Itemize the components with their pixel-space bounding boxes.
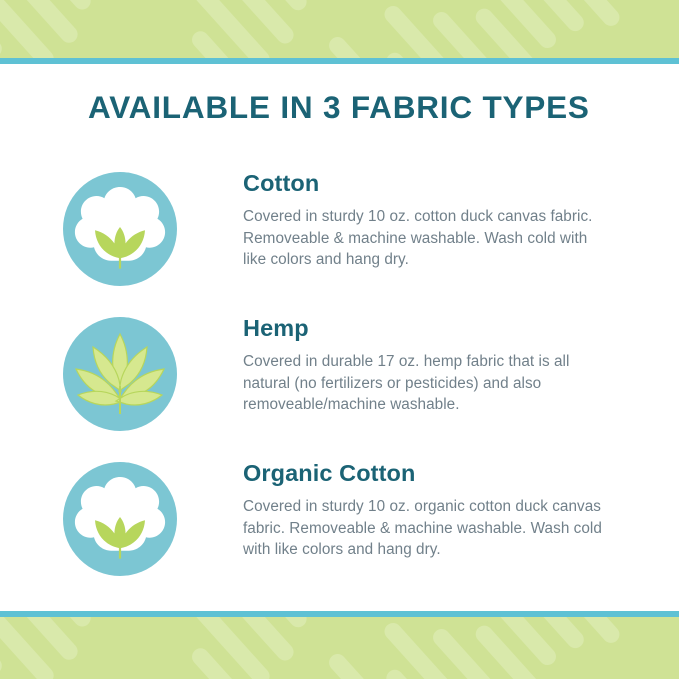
feature-title: Hemp	[243, 316, 613, 342]
diagonal-stripe-pattern-icon	[0, 0, 679, 58]
top-decorative-band	[0, 0, 679, 58]
top-teal-divider	[0, 58, 679, 64]
cotton-boll-icon	[62, 461, 178, 577]
feature-body-organic-cotton: Organic Cotton Covered in sturdy 10 oz. …	[243, 461, 613, 561]
feature-body-hemp: Hemp Covered in durable 17 oz. hemp fabr…	[243, 316, 613, 416]
cotton-boll-icon	[62, 171, 178, 287]
fabric-types-infographic: AVAILABLE IN 3 FABRIC TYPES Cotton Cover…	[0, 0, 679, 679]
feature-title: Organic Cotton	[243, 461, 613, 487]
page-title: AVAILABLE IN 3 FABRIC TYPES	[88, 89, 590, 126]
hemp-leaf-icon	[62, 316, 178, 432]
bottom-decorative-band	[0, 617, 679, 679]
diagonal-stripe-pattern-icon	[0, 617, 679, 679]
feature-body-cotton: Cotton Covered in sturdy 10 oz. cotton d…	[243, 171, 613, 271]
feature-description: Covered in sturdy 10 oz. cotton duck can…	[243, 206, 613, 271]
feature-description: Covered in sturdy 10 oz. organic cotton …	[243, 496, 613, 561]
feature-title: Cotton	[243, 171, 613, 197]
feature-description: Covered in durable 17 oz. hemp fabric th…	[243, 351, 613, 416]
